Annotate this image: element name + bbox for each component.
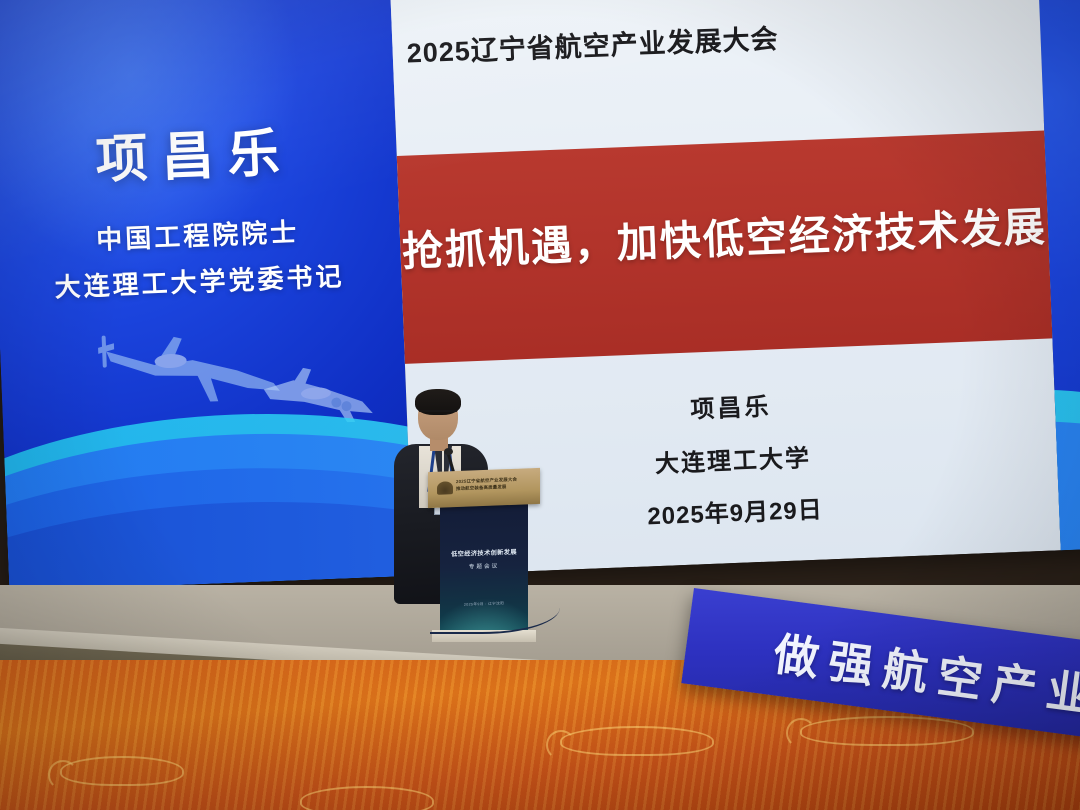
slide-red-band: 抢抓机遇，加快低空经济技术发展 [397, 131, 1053, 364]
screen-left-panel: 项昌乐 中国工程院院士 大连理工大学党委书记 [0, 0, 413, 592]
glasses-icon [419, 410, 457, 421]
led-stage-screen: 项昌乐 中国工程院院士 大连理工大学党委书记 [0, 0, 1080, 592]
podium-top-text: 2025辽宁省航空产业发展大会 推动航空装备高质量发展 [456, 475, 534, 492]
podium-theme-line: 低空经济技术创新发展 [440, 546, 528, 558]
podium-session-line: 专题会议 [440, 560, 528, 571]
cloud-pattern [48, 760, 78, 790]
emblem-icon [437, 481, 453, 495]
cloud-pattern [560, 726, 714, 756]
cloud-pattern [300, 786, 434, 810]
slide-header-title: 2025辽宁省航空产业发展大会 [406, 7, 1027, 70]
microphone-icon [444, 448, 453, 455]
speaker-name-large: 项昌乐 [0, 106, 398, 197]
podium-top-surface: 2025辽宁省航空产业发展大会 推动航空装备高质量发展 [428, 468, 540, 508]
cloud-pattern [546, 730, 576, 760]
cloud-pattern [800, 716, 974, 746]
cloud-pattern [60, 756, 184, 786]
cloud-pattern [786, 718, 816, 748]
slide-main-title: 抢抓机遇，加快低空经济技术发展 [399, 193, 1049, 278]
conference-stage-photo: 项昌乐 中国工程院院士 大连理工大学党委书记 [0, 0, 1080, 810]
slide-presenter-name: 项昌乐 [406, 375, 1055, 435]
